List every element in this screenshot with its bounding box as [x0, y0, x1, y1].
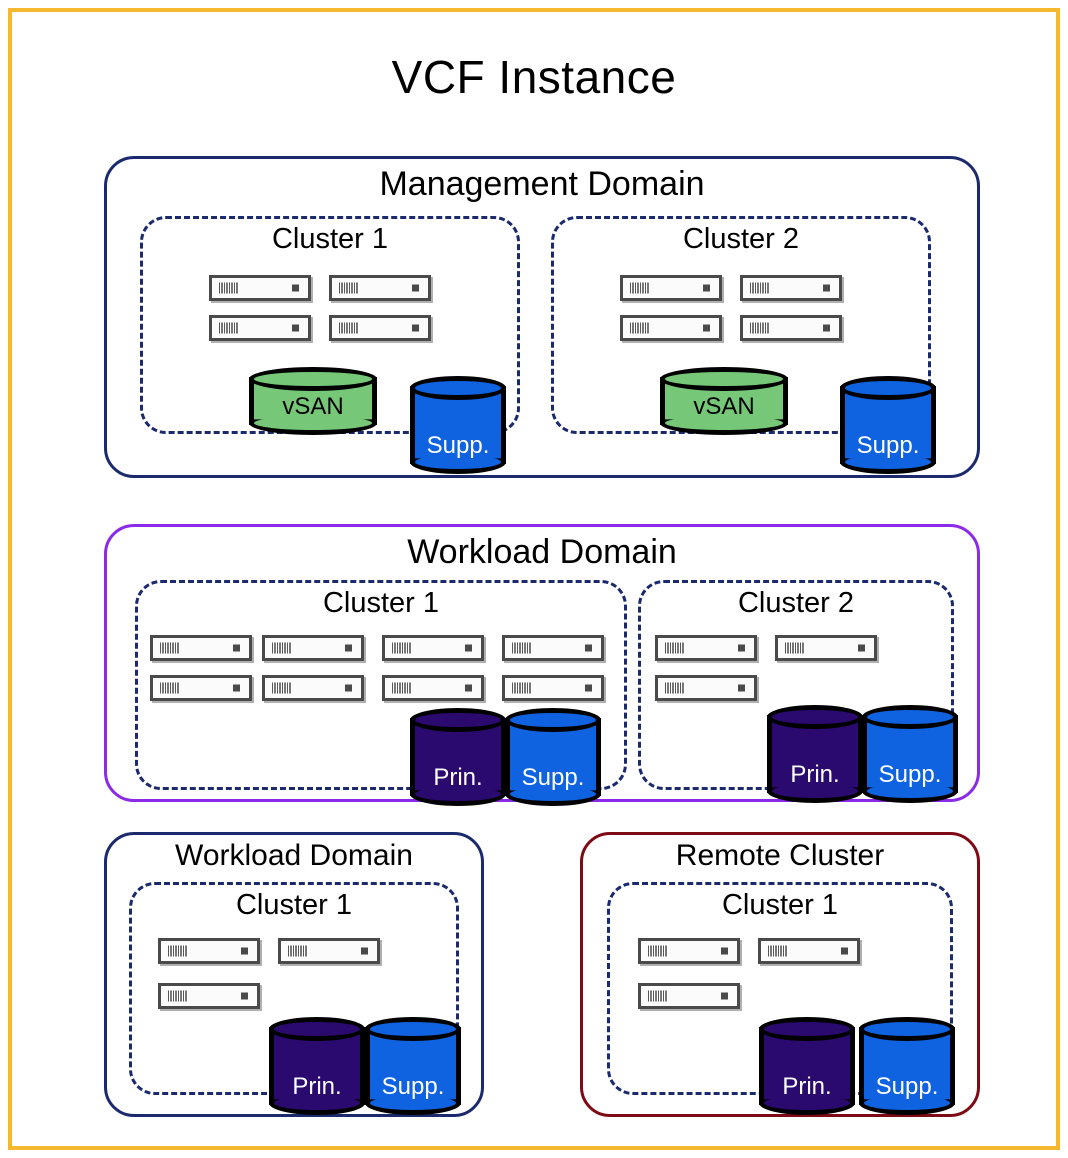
storage-cylinder-icon-principal[interactable]: Prin.	[410, 708, 506, 806]
server-icon[interactable]	[209, 315, 311, 341]
server-bars-icon	[272, 683, 292, 694]
storage-label: Prin.	[767, 761, 863, 789]
storage-label: Supp.	[840, 432, 936, 460]
domain-title: Management Domain	[107, 165, 977, 204]
server-bars-icon	[768, 946, 788, 957]
server-icon[interactable]	[382, 635, 484, 661]
server-bars-icon	[288, 946, 308, 957]
cluster-title: Cluster 1	[132, 889, 456, 922]
server-bars-icon	[665, 683, 685, 694]
cylinder-top	[365, 1017, 461, 1041]
server-icon[interactable]	[638, 983, 740, 1009]
server-bars-icon	[665, 643, 685, 654]
server-icon[interactable]	[158, 983, 260, 1009]
cluster-title: Cluster 1	[143, 223, 517, 256]
server-bars-icon	[648, 991, 668, 1002]
server-led-icon	[412, 285, 419, 292]
cylinder-top	[859, 1017, 955, 1041]
storage-label: Supp.	[862, 761, 958, 789]
storage-cylinder-icon-vsan[interactable]: vSAN	[660, 367, 788, 435]
cylinder-top	[660, 367, 788, 391]
server-led-icon	[823, 285, 830, 292]
server-bars-icon	[339, 323, 359, 334]
cylinder-top	[767, 705, 863, 729]
storage-cylinder-icon-supplemental[interactable]: Supp.	[862, 705, 958, 803]
cluster-title: Cluster 1	[610, 889, 950, 922]
server-icon[interactable]	[638, 938, 740, 964]
cluster-title: Cluster 2	[641, 587, 951, 620]
storage-label: vSAN	[249, 393, 377, 421]
server-icon[interactable]	[740, 275, 842, 301]
server-icon[interactable]	[262, 635, 364, 661]
server-led-icon	[858, 645, 865, 652]
domain-remote-cluster[interactable]: Remote Cluster Cluster 1 Prin. Supp.	[580, 832, 980, 1117]
server-icon[interactable]	[329, 275, 431, 301]
server-bars-icon	[160, 643, 180, 654]
server-led-icon	[233, 645, 240, 652]
server-bars-icon	[392, 683, 412, 694]
server-bars-icon	[648, 946, 668, 957]
storage-cylinder-icon-supplemental[interactable]: Supp.	[365, 1017, 461, 1115]
cylinder-top	[410, 708, 506, 732]
storage-cylinder-icon-principal[interactable]: Prin.	[767, 705, 863, 803]
cylinder-top	[759, 1017, 855, 1041]
server-led-icon	[585, 645, 592, 652]
server-bars-icon	[160, 683, 180, 694]
storage-label: Supp.	[505, 764, 601, 792]
server-led-icon	[292, 285, 299, 292]
cluster-title: Cluster 2	[554, 223, 928, 256]
server-bars-icon	[512, 643, 532, 654]
server-bars-icon	[630, 283, 650, 294]
server-bars-icon	[630, 323, 650, 334]
storage-label: Prin.	[759, 1073, 855, 1101]
server-icon[interactable]	[382, 675, 484, 701]
vcf-instance-frame: VCF Instance Management Domain Cluster 1	[8, 8, 1060, 1150]
server-led-icon	[361, 948, 368, 955]
server-led-icon	[738, 645, 745, 652]
server-led-icon	[465, 685, 472, 692]
page-title: VCF Instance	[12, 50, 1056, 104]
storage-cylinder-icon-supplemental[interactable]: Supp.	[859, 1017, 955, 1115]
storage-cylinder-icon-vsan[interactable]: vSAN	[249, 367, 377, 435]
domain-title: Remote Cluster	[583, 839, 977, 873]
cylinder-top	[269, 1017, 365, 1041]
storage-cylinder-icon-supplemental[interactable]: Supp.	[840, 376, 936, 474]
server-icon[interactable]	[655, 675, 757, 701]
storage-cylinder-icon-supplemental[interactable]: Supp.	[410, 376, 506, 474]
server-icon[interactable]	[209, 275, 311, 301]
server-bars-icon	[339, 283, 359, 294]
server-icon[interactable]	[158, 938, 260, 964]
server-icon[interactable]	[620, 275, 722, 301]
storage-cylinder-icon-principal[interactable]: Prin.	[269, 1017, 365, 1115]
server-bars-icon	[750, 283, 770, 294]
server-icon[interactable]	[150, 675, 252, 701]
server-led-icon	[585, 685, 592, 692]
server-led-icon	[292, 325, 299, 332]
server-bars-icon	[392, 643, 412, 654]
server-icon[interactable]	[502, 675, 604, 701]
storage-label: Prin.	[410, 764, 506, 792]
server-bars-icon	[219, 283, 239, 294]
server-led-icon	[233, 685, 240, 692]
server-icon[interactable]	[620, 315, 722, 341]
cylinder-top	[249, 367, 377, 391]
server-bars-icon	[750, 323, 770, 334]
server-led-icon	[841, 948, 848, 955]
cluster-title: Cluster 1	[138, 587, 624, 620]
domain-workload-domain-2[interactable]: Workload Domain Cluster 1 Prin. Supp.	[104, 832, 484, 1117]
storage-label: Supp.	[410, 432, 506, 460]
server-icon[interactable]	[758, 938, 860, 964]
server-led-icon	[823, 325, 830, 332]
storage-label: Prin.	[269, 1073, 365, 1101]
cylinder-top	[505, 708, 601, 732]
server-icon[interactable]	[655, 635, 757, 661]
domain-title: Workload Domain	[107, 839, 481, 873]
domain-workload-domain-1[interactable]: Workload Domain Cluster 1	[104, 524, 980, 802]
storage-cylinder-icon-supplemental[interactable]: Supp.	[505, 708, 601, 806]
server-led-icon	[721, 993, 728, 1000]
server-led-icon	[465, 645, 472, 652]
server-led-icon	[345, 685, 352, 692]
server-bars-icon	[272, 643, 292, 654]
server-bars-icon	[219, 323, 239, 334]
storage-label: vSAN	[660, 393, 788, 421]
domain-title: Workload Domain	[107, 533, 977, 572]
server-led-icon	[738, 685, 745, 692]
server-led-icon	[412, 325, 419, 332]
server-icon[interactable]	[502, 635, 604, 661]
server-bars-icon	[168, 991, 188, 1002]
server-icon[interactable]	[740, 315, 842, 341]
server-bars-icon	[785, 643, 805, 654]
server-icon[interactable]	[262, 675, 364, 701]
server-icon[interactable]	[278, 938, 380, 964]
server-led-icon	[241, 948, 248, 955]
cylinder-top	[410, 376, 506, 400]
cylinder-top	[862, 705, 958, 729]
server-icon[interactable]	[150, 635, 252, 661]
server-bars-icon	[168, 946, 188, 957]
server-bars-icon	[512, 683, 532, 694]
cylinder-top	[840, 376, 936, 400]
storage-label: Supp.	[365, 1073, 461, 1101]
server-led-icon	[703, 285, 710, 292]
server-led-icon	[703, 325, 710, 332]
server-led-icon	[241, 993, 248, 1000]
domain-management-domain[interactable]: Management Domain Cluster 1	[104, 156, 980, 478]
server-icon[interactable]	[329, 315, 431, 341]
storage-cylinder-icon-principal[interactable]: Prin.	[759, 1017, 855, 1115]
server-led-icon	[345, 645, 352, 652]
server-icon[interactable]	[775, 635, 877, 661]
storage-label: Supp.	[859, 1073, 955, 1101]
server-led-icon	[721, 948, 728, 955]
